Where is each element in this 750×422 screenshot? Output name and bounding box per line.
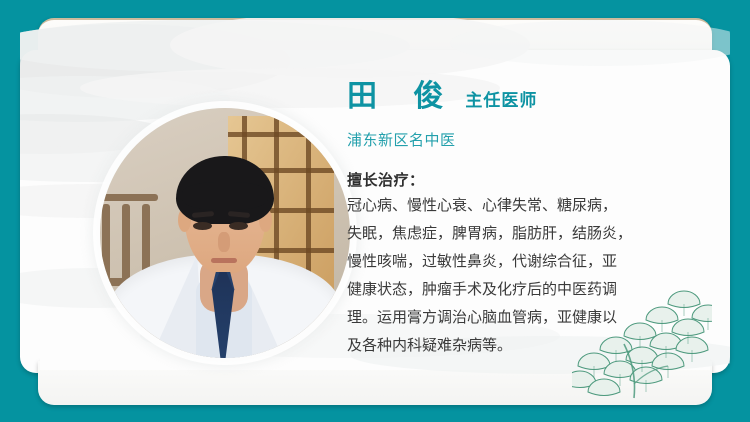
doctor-profile-card-image: 田 俊 主任医师 浦东新区名中医 擅长治疗： 冠心病、慢性心衰、心律失常、糖尿病… (0, 0, 750, 422)
honor-title: 浦东新区名中医 (347, 129, 699, 150)
specialty-line: 及各种内科疑难杂病等。 (347, 332, 692, 360)
doctor-name: 田 俊 (347, 80, 457, 113)
avatar (100, 108, 350, 358)
specialty-line: 慢性咳喘，过敏性鼻炎，代谢综合征，亚 (347, 248, 692, 276)
specialty-line: 冠心病、慢性心衰、心律失常、糖尿病， (347, 192, 692, 220)
specialty-body: 冠心病、慢性心衰、心律失常、糖尿病， 失眠，焦虑症，脾胃病，脂肪肝，结肠炎， 慢… (347, 192, 692, 360)
specialty-line: 健康状态，肿瘤手术及化疗后的中医药调 (347, 276, 692, 304)
name-line: 田 俊 主任医师 (347, 80, 699, 113)
specialty-heading: 擅长治疗： (347, 169, 699, 190)
specialty-line: 理。运用膏方调治心脑血管病，亚健康以 (347, 304, 692, 332)
professional-title: 主任医师 (465, 86, 537, 111)
card-seam-top (40, 56, 710, 72)
specialty-line: 失眠，焦虑症，脾胃病，脂肪肝，结肠炎， (347, 220, 692, 248)
doctor-info: 田 俊 主任医师 浦东新区名中医 擅长治疗： 冠心病、慢性心衰、心律失常、糖尿病… (347, 80, 699, 360)
